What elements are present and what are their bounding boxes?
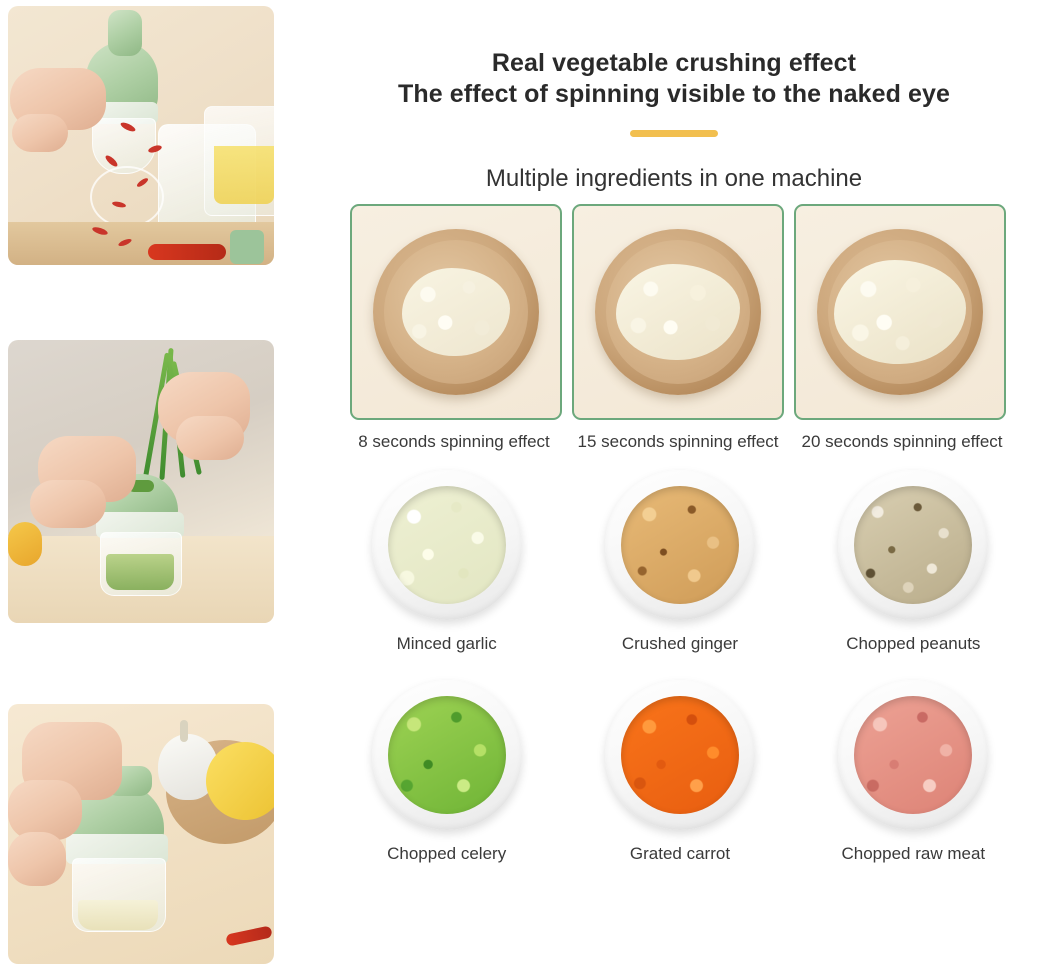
headline-line-1: Real vegetable crushing effect <box>290 0 1058 78</box>
spinning-panel-1 <box>350 204 562 420</box>
bowl-label-chopped-peanuts: Chopped peanuts <box>846 634 980 654</box>
spinning-panel-caption-2: 15 seconds spinning effect <box>566 432 790 452</box>
headline-line-2: The effect of spinning visible to the na… <box>290 78 1058 110</box>
bowl-label-grated-carrot: Grated carrot <box>630 844 730 864</box>
subheadline: Multiple ingredients in one machine <box>290 142 1058 194</box>
grated-carrot-contents <box>621 696 739 814</box>
bowl-icon <box>605 470 755 620</box>
minced-garlic-contents <box>388 486 506 604</box>
product-photo-column <box>8 6 274 964</box>
bowl-label-minced-garlic: Minced garlic <box>397 634 497 654</box>
chopped-peanuts-contents <box>854 486 972 604</box>
bowl-cell-chopped-raw-meat: Chopped raw meat <box>797 680 1030 864</box>
crushed-ginger-contents <box>621 486 739 604</box>
accent-divider <box>630 130 718 137</box>
bowl-icon <box>838 680 988 830</box>
bowl-icon <box>372 470 522 620</box>
divider-wrapper <box>290 110 1058 142</box>
spinning-panel-3 <box>794 204 1006 420</box>
bowl-label-crushed-ginger: Crushed ginger <box>622 634 738 654</box>
chopped-raw-meat-contents <box>854 696 972 814</box>
bowl-cell-chopped-celery: Chopped celery <box>330 680 563 864</box>
bowl-cell-grated-carrot: Grated carrot <box>563 680 796 864</box>
bowl-icon <box>838 470 988 620</box>
ingredient-bowls-grid: Minced garlic Crushed ginger Chopped pea… <box>330 470 1030 864</box>
spinning-effect-panels <box>350 204 1006 420</box>
photo-hands-feeding-chives-into-chopper <box>8 340 274 623</box>
ingredient-bowls-row-1: Minced garlic Crushed ginger Chopped pea… <box>330 470 1030 654</box>
bowl-icon <box>605 680 755 830</box>
spinning-panel-captions: 8 seconds spinning effect 15 seconds spi… <box>342 432 1014 452</box>
spinning-panel-2 <box>572 204 784 420</box>
content-column: Real vegetable crushing effect The effec… <box>290 0 1058 969</box>
bowl-cell-chopped-peanuts: Chopped peanuts <box>797 470 1030 654</box>
spinning-panel-caption-1: 8 seconds spinning effect <box>342 432 566 452</box>
bowl-cell-minced-garlic: Minced garlic <box>330 470 563 654</box>
bowl-icon <box>372 680 522 830</box>
chopped-celery-contents <box>388 696 506 814</box>
bowl-cell-crushed-ginger: Crushed ginger <box>563 470 796 654</box>
product-infographic: Real vegetable crushing effect The effec… <box>0 0 1058 969</box>
ingredient-bowls-row-2: Chopped celery Grated carrot Chopped raw… <box>330 680 1030 864</box>
bowl-label-chopped-raw-meat: Chopped raw meat <box>842 844 986 864</box>
bowl-label-chopped-celery: Chopped celery <box>387 844 506 864</box>
spinning-panel-caption-3: 20 seconds spinning effect <box>790 432 1014 452</box>
photo-hand-holding-chopper-with-chili-peppers <box>8 6 274 265</box>
photo-hand-pressing-chopper-with-garlic-corn <box>8 704 274 964</box>
